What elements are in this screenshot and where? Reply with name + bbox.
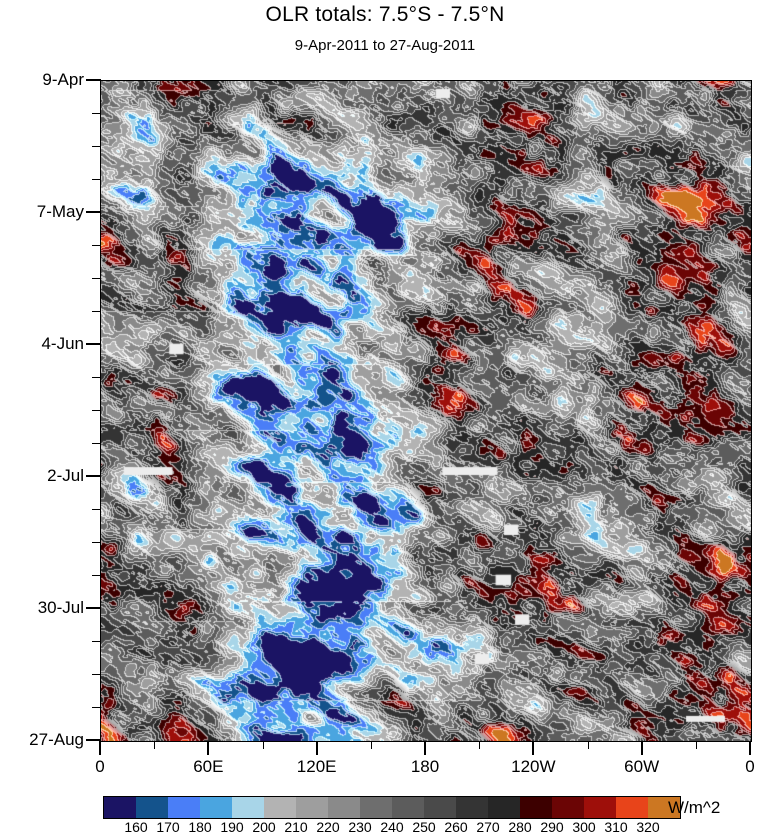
colorbar-tick-label: 320 [636,820,659,835]
chart-title: OLR totals: 7.5°S - 7.5°N [0,2,770,28]
chart-subtitle: 9-Apr-2011 to 27-Aug-2011 [0,36,770,55]
colorbar-tick-label: 270 [476,820,499,835]
x-axis-minor-tick [588,741,589,749]
y-axis-tick-label: 4-Jun [41,335,84,352]
colorbar-swatch[interactable] [168,797,200,818]
y-axis-major-tick [86,211,101,213]
x-axis-tick-label: 120E [297,758,337,776]
colorbar[interactable] [103,796,681,819]
colorbar-tick-label: 170 [156,820,179,835]
colorbar-swatch[interactable] [616,797,648,818]
colorbar-tick-label: 160 [124,820,147,835]
colorbar-tick-label: 260 [444,820,467,835]
colorbar-swatch[interactable] [136,797,168,818]
x-axis-minor-tick [154,741,155,749]
colorbar-swatch[interactable] [296,797,328,818]
colorbar-tick-label: 190 [220,820,243,835]
colorbar-tick-label: 210 [284,820,307,835]
colorbar-swatch[interactable] [488,797,520,818]
x-axis-tick-label: 120W [511,758,555,776]
colorbar-swatch[interactable] [392,797,424,818]
colorbar-swatch[interactable] [264,797,296,818]
colorbar-tick-label: 230 [348,820,371,835]
x-axis-major-tick [207,741,209,755]
x-axis-minor-tick [696,741,697,749]
colorbar-swatch[interactable] [456,797,488,818]
y-axis-minor-tick [92,146,101,147]
colorbar-swatch[interactable] [360,797,392,818]
y-axis-minor-tick [92,707,101,708]
y-axis-minor-tick [92,443,101,444]
y-axis-minor-tick [92,179,101,180]
colorbar-swatch[interactable] [104,797,136,818]
x-axis-major-tick [749,741,751,755]
x-axis-major-tick [424,741,426,755]
x-axis-major-tick [641,741,643,755]
y-axis-major-tick [86,607,101,609]
colorbar-tick-label: 290 [540,820,563,835]
x-axis-tick-label: 0 [95,758,104,776]
y-axis-major-tick [86,475,101,477]
colorbar-tick-label: 280 [508,820,531,835]
x-axis-minor-tick [371,741,372,749]
hovmoller-heatmap [101,81,751,741]
y-axis-tick-label: 9-Apr [42,71,84,88]
y-axis-minor-tick [92,542,101,543]
y-axis-minor-tick [92,509,101,510]
colorbar-tick-label: 250 [412,820,435,835]
y-axis-major-tick [86,79,101,81]
x-axis-major-tick [532,741,534,755]
colorbar-swatch[interactable] [328,797,360,818]
y-axis-minor-tick [92,278,101,279]
colorbar-tick-label: 180 [188,820,211,835]
y-axis-minor-tick [92,575,101,576]
colorbar-swatch[interactable] [424,797,456,818]
y-axis-minor-tick [92,113,101,114]
colorbar-tick-label: 220 [316,820,339,835]
x-axis-minor-tick [263,741,264,749]
colorbar-swatch[interactable] [584,797,616,818]
x-axis-tick-label: 60E [193,758,223,776]
y-axis-major-tick [86,343,101,345]
y-axis-minor-tick [92,674,101,675]
y-axis-minor-tick [92,377,101,378]
y-axis-minor-tick [92,410,101,411]
colorbar-tick-label: 310 [604,820,627,835]
colorbar-tick-label: 300 [572,820,595,835]
colorbar-swatch[interactable] [520,797,552,818]
colorbar-swatch[interactable] [200,797,232,818]
y-axis-minor-tick [92,641,101,642]
x-axis-major-tick [99,741,101,755]
y-axis-minor-tick [92,245,101,246]
colorbar-swatch[interactable] [552,797,584,818]
y-axis-minor-tick [92,311,101,312]
plot-area [100,80,752,742]
y-axis-tick-label: 27-Aug [29,731,84,748]
figure-container: OLR totals: 7.5°S - 7.5°N 9-Apr-2011 to … [0,0,770,834]
x-axis-major-tick [316,741,318,755]
y-axis-tick-label: 30-Jul [38,599,84,616]
x-axis-tick-label: 60W [624,758,659,776]
y-axis-tick-label: 7-May [37,203,84,220]
colorbar-units-label: W/m^2 [668,798,720,817]
x-axis-tick-label: 180 [411,758,439,776]
colorbar-tick-label: 200 [252,820,275,835]
y-axis-tick-label: 2-Jul [47,467,84,484]
colorbar-swatch[interactable] [232,797,264,818]
x-axis-tick-label: 0 [745,758,754,776]
colorbar-tick-label: 240 [380,820,403,835]
x-axis-minor-tick [479,741,480,749]
